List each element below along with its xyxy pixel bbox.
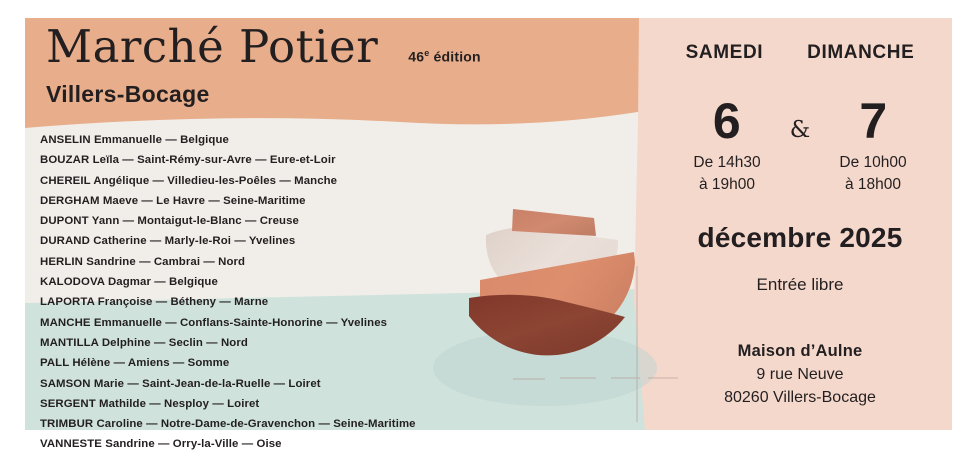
exhibitor-item: BOUZAR Leïla — Saint-Rémy-sur-Avre — Eur…	[40, 150, 600, 170]
info-panel: SAMEDI DIMANCHE 6 & 7 De 14h30 à 19h00 D…	[645, 0, 955, 452]
exhibitor-item: TRIMBUR Caroline — Notre-Dame-de-Gravenc…	[40, 414, 600, 434]
hours-row: De 14h30 à 19h00 De 10h00 à 18h00	[645, 152, 955, 197]
daynumbers-row: 6 & 7	[645, 96, 955, 146]
edition-word: édition	[434, 49, 481, 65]
title-row: Marché Potier 46e édition	[46, 22, 566, 72]
page-subtitle: Villers-Bocage	[46, 81, 566, 108]
page-title: Marché Potier	[46, 22, 378, 72]
exhibitor-item: KALODOVA Dagmar — Belgique	[40, 272, 600, 292]
exhibitor-item: ANSELIN Emmanuelle — Belgique	[40, 130, 600, 150]
saturday-hours: De 14h30 à 19h00	[672, 152, 782, 197]
exhibitor-item: MANTILLA Delphine — Seclin — Nord	[40, 333, 600, 353]
sunday-daynumber: 7	[852, 96, 894, 146]
venue-name: Maison d’Aulne	[645, 342, 955, 361]
exhibitor-item: CHEREIL Angélique — Villedieu-les-Poêles…	[40, 171, 600, 191]
venue-city: 80260 Villers-Bocage	[645, 386, 955, 409]
month-year: décembre 2025	[645, 222, 955, 254]
exhibitor-item: PALL Hélène — Amiens — Somme	[40, 353, 600, 373]
sunday-dayname: DIMANCHE	[807, 42, 914, 64]
venue-street: 9 rue Neuve	[645, 363, 955, 386]
admission-label: Entrée libre	[645, 275, 955, 295]
saturday-hours-to: à 19h00	[672, 174, 782, 196]
sunday-hours-from: De 10h00	[818, 152, 928, 174]
sunday-hours-to: à 18h00	[818, 174, 928, 196]
exhibitor-item: DERGHAM Maeve — Le Havre — Seine-Maritim…	[40, 191, 600, 211]
daynames-row: SAMEDI DIMANCHE	[645, 42, 955, 64]
exhibitor-item: SERGENT Mathilde — Nesploy — Loiret	[40, 394, 600, 414]
edition-label: 46e édition	[408, 48, 481, 65]
saturday-hours-from: De 14h30	[672, 152, 782, 174]
exhibitor-item: HERLIN Sandrine — Cambrai — Nord	[40, 252, 600, 272]
exhibitor-item: DUPONT Yann — Montaigut-le-Blanc — Creus…	[40, 211, 600, 231]
exhibitor-item: MANCHE Emmanuelle — Conflans-Sainte-Hono…	[40, 313, 600, 333]
ampersand: &	[790, 101, 810, 142]
edition-number: 46	[408, 49, 424, 65]
exhibitor-item: VANNESTE Sandrine — Orry-la-Ville — Oise	[40, 434, 600, 452]
saturday-dayname: SAMEDI	[686, 42, 764, 64]
exhibitor-list: ANSELIN Emmanuelle — BelgiqueBOUZAR Leïl…	[40, 130, 600, 452]
poster-header: Marché Potier 46e édition Villers-Bocage	[46, 22, 566, 108]
venue-block: Maison d’Aulne 9 rue Neuve 80260 Villers…	[645, 342, 955, 409]
edition-suffix: e	[424, 48, 429, 58]
exhibitor-item: LAPORTA Françoise — Bétheny — Marne	[40, 292, 600, 312]
poster: Marché Potier 46e édition Villers-Bocage…	[0, 0, 977, 452]
exhibitor-item: DURAND Catherine — Marly-le-Roi — Yvelin…	[40, 231, 600, 251]
sunday-hours: De 10h00 à 18h00	[818, 152, 928, 197]
saturday-daynumber: 6	[706, 96, 748, 146]
exhibitor-item: SAMSON Marie — Saint-Jean-de-la-Ruelle —…	[40, 374, 600, 394]
